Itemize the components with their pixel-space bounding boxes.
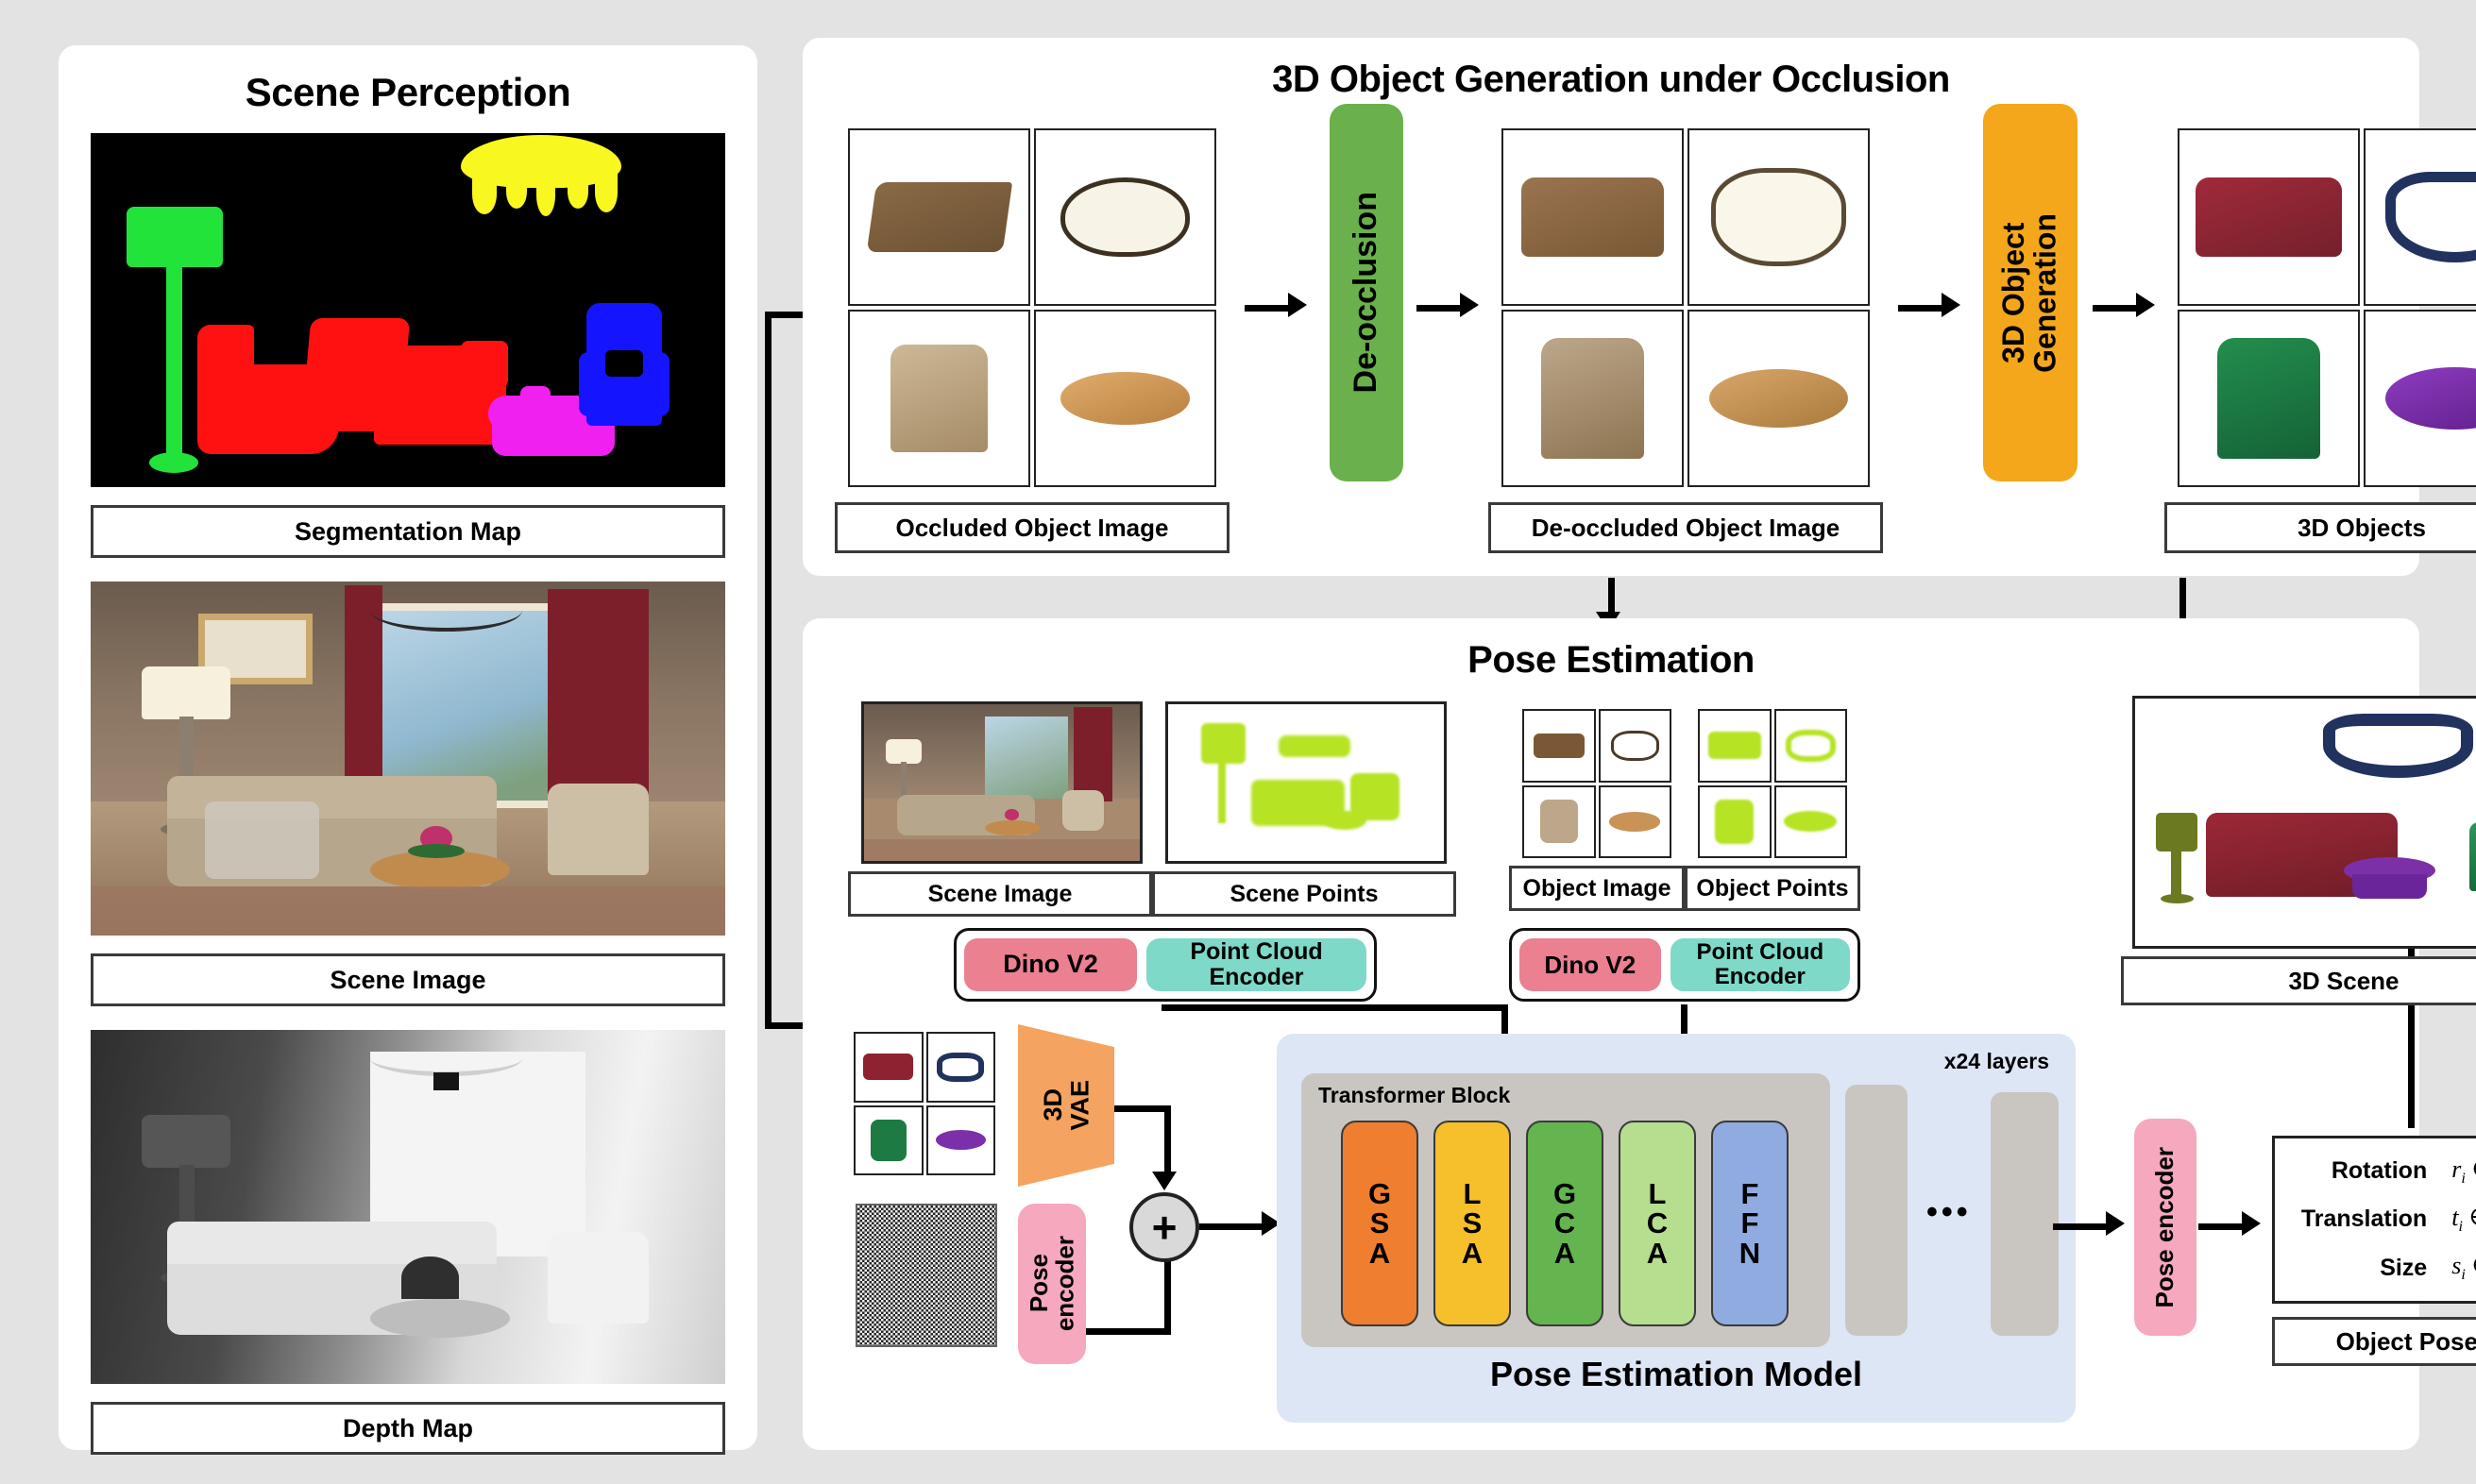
deoccluded-armchair-thumb <box>1501 310 1684 487</box>
caption-pose-object-points-text: Object Points <box>1696 875 1848 902</box>
occluded-armchair-thumb <box>848 310 1030 487</box>
object-point-cloud-encoder[interactable]: Point Cloud Encoder <box>1670 938 1850 991</box>
caption-3d-objects: 3D Objects <box>2164 502 2476 553</box>
layer-gsa[interactable]: G S A <box>1341 1121 1418 1326</box>
layer-ffn-label: F F N <box>1739 1179 1760 1269</box>
vae-in-table <box>926 1105 996 1176</box>
gca-l2: C <box>1554 1206 1575 1239</box>
pose-pts-sofa <box>1698 709 1772 783</box>
caption-pose-object-image-text: Object Image <box>1523 875 1671 902</box>
size-member: ∈ <box>2471 1252 2476 1279</box>
object-pce-line1: Point Cloud <box>1696 939 1823 965</box>
scene-chandelier-3d <box>2323 714 2473 778</box>
pose-estimation-panel: Pose Estimation Scene Image Scene Points <box>803 618 2419 1450</box>
gsa-l3: A <box>1369 1237 1390 1270</box>
lca-l1: L <box>1649 1177 1667 1210</box>
caption-pose-object-image: Object Image <box>1509 866 1685 911</box>
caption-pose-scene-points: Scene Points <box>1152 871 1456 917</box>
vae-in-sofa <box>854 1032 924 1103</box>
gca-l1: G <box>1553 1177 1576 1210</box>
caption-deoccluded-object-image-text: De-occluded Object Image <box>1532 514 1840 543</box>
layer-gca-label: G C A <box>1553 1179 1576 1269</box>
vae-line2: VAE <box>1065 1080 1094 1131</box>
rot-sym: r <box>2451 1155 2461 1183</box>
depth-map-image <box>91 1030 725 1384</box>
scene-point-cloud-encoder[interactable]: Point Cloud Encoder <box>1146 938 1366 991</box>
trans-member: ∈ <box>2468 1204 2476 1231</box>
gsa-l1: G <box>1368 1177 1391 1210</box>
ffn-l2: F <box>1741 1206 1759 1239</box>
caption-segmentation-map: Segmentation Map <box>91 505 725 558</box>
vae-line1: 3D <box>1039 1089 1067 1122</box>
caption-scene-image-text: Scene Image <box>330 966 485 995</box>
transformer-block: Transformer Block G S A L S A G C <box>1301 1073 1830 1347</box>
lsa-l2: S <box>1463 1206 1483 1239</box>
pose-value-translation: ti ∈ ℝ3 <box>2451 1204 2476 1236</box>
scene-lamp-3d <box>2156 813 2197 852</box>
caption-occluded-object-image: Occluded Object Image <box>835 502 1230 553</box>
objects-3d-grid <box>2178 128 2476 487</box>
caption-segmentation-map-text: Segmentation Map <box>295 517 521 547</box>
deocclusion-label: De-occlusion <box>1349 192 1383 393</box>
caption-3d-scene-text: 3D Scene <box>2288 967 2399 996</box>
scene-perception-title: Scene Perception <box>59 70 757 115</box>
sum-node-symbol: + <box>1152 1202 1178 1253</box>
pose-pts-armchair <box>1698 785 1772 859</box>
layer-lca-label: L C A <box>1647 1179 1668 1269</box>
gen-line-2: Generation <box>2028 213 2062 373</box>
object-poses-table: Rotation ri ∈ ℝ6 Translation ti ∈ ℝ3 Siz… <box>2272 1136 2476 1304</box>
ffn-l1: F <box>1741 1177 1759 1210</box>
caption-depth-map-text: Depth Map <box>343 1414 473 1443</box>
gen-line-1: 3D Object <box>1996 222 2030 363</box>
pose-obj-chandelier <box>1599 709 1672 783</box>
object-dino-v2-label: Dino V2 <box>1544 952 1636 979</box>
3d-vae-block: 3D VAE <box>1018 1024 1114 1187</box>
caption-depth-map: Depth Map <box>91 1402 725 1455</box>
noise-image <box>856 1204 997 1347</box>
gca-l3: A <box>1554 1237 1575 1270</box>
caption-occluded-object-image-text: Occluded Object Image <box>896 514 1169 543</box>
pose-pts-chandelier <box>1774 709 1848 783</box>
pose-key-rotation: Rotation <box>2294 1157 2427 1185</box>
ffn-l3: N <box>1739 1237 1760 1270</box>
caption-3d-objects-text: 3D Objects <box>2298 514 2426 543</box>
object-generation-block-label: 3D Object Generation <box>1998 213 2061 373</box>
lca-l3: A <box>1647 1237 1668 1270</box>
layer-lca[interactable]: L C A <box>1619 1121 1696 1326</box>
transformer-block-label: Transformer Block <box>1318 1083 1510 1108</box>
deoccluded-table-thumb <box>1687 310 1870 487</box>
object-pce-line2: Encoder <box>1715 964 1806 989</box>
ghost-block-1 <box>1845 1085 1908 1336</box>
occluded-object-grid <box>848 128 1216 487</box>
seg-floor-lamp <box>127 207 223 267</box>
scene-armchair-3d <box>2469 822 2476 891</box>
occluded-table-thumb <box>1034 310 1216 487</box>
trans-sub: i <box>2458 1219 2462 1235</box>
deoccluded-chandelier-thumb <box>1687 128 1870 306</box>
layers-ellipsis: ••• <box>1926 1194 1972 1231</box>
vae-in-chandelier <box>926 1032 996 1103</box>
pose-encoder-input: Pose encoder <box>1018 1204 1086 1364</box>
pose-obj-table <box>1599 785 1672 859</box>
scene-perception-panel: Scene Perception <box>59 45 757 1450</box>
caption-pose-scene-image: Scene Image <box>848 871 1152 917</box>
size-sym: s <box>2451 1252 2461 1279</box>
pose-scene-image <box>861 701 1143 864</box>
pose-scene-points <box>1165 701 1447 864</box>
object-generation-panel: 3D Object Generation under Occlusion Occ… <box>803 38 2419 576</box>
scene-encoder-group: Dino V2 Point Cloud Encoder <box>954 928 1377 1002</box>
object-generation-title: 3D Object Generation under Occlusion <box>803 59 2419 101</box>
occluded-sofa-thumb <box>848 128 1030 306</box>
object-generation-block: 3D Object Generation <box>1983 104 2077 481</box>
pose-value-size: si ∈ R <box>2451 1252 2476 1284</box>
layer-lsa[interactable]: L S A <box>1433 1121 1511 1326</box>
pose-estimation-model-name: Pose Estimation Model <box>1277 1355 2076 1394</box>
pose-encoder-output: Pose encoder <box>2134 1119 2196 1336</box>
scene-pce-line1: Point Cloud <box>1190 938 1322 965</box>
layer-gca[interactable]: G C A <box>1526 1121 1603 1326</box>
lsa-l1: L <box>1464 1177 1482 1210</box>
scene-dino-v2[interactable]: Dino V2 <box>964 938 1137 991</box>
layer-ffn[interactable]: F F N <box>1711 1121 1789 1326</box>
object-3d-table-thumb <box>2364 310 2476 487</box>
pose-estimation-model: x24 layers Transformer Block G S A L S A <box>1277 1034 2076 1423</box>
vae-in-armchair <box>854 1105 924 1176</box>
pose-enc-out-label: Pose encoder <box>2152 1147 2178 1308</box>
pose-object-image-grid <box>1522 709 1671 858</box>
caption-object-poses: Object Poses <box>2272 1317 2476 1366</box>
object-3d-chandelier-thumb <box>2364 128 2476 306</box>
caption-pose-object-points: Object Points <box>1685 866 1860 911</box>
vae-input-objects-grid <box>854 1032 995 1175</box>
rot-sub: i <box>2461 1171 2465 1187</box>
layer-gsa-label: G S A <box>1368 1179 1391 1269</box>
pose-estimation-title: Pose Estimation <box>803 639 2419 682</box>
pose-key-translation: Translation <box>2294 1206 2427 1233</box>
object-3d-sofa-thumb <box>2178 128 2360 306</box>
scene-pce-line2: Encoder <box>1210 964 1304 990</box>
object-dino-v2[interactable]: Dino V2 <box>1519 938 1661 991</box>
deoccluded-object-grid <box>1501 128 1870 487</box>
rot-member: ∈ <box>2471 1155 2476 1183</box>
size-sub: i <box>2461 1267 2465 1283</box>
3d-scene-image <box>2132 696 2476 949</box>
sum-node: + <box>1129 1192 1199 1262</box>
layers-count-label: x24 layers <box>1944 1049 2049 1074</box>
pose-obj-sofa <box>1522 709 1596 783</box>
pose-enc-in-line2: encoder <box>1050 1236 1078 1331</box>
scene-image <box>91 582 725 936</box>
deoccluded-sofa-thumb <box>1501 128 1684 306</box>
pose-value-rotation: ri ∈ ℝ6 <box>2451 1155 2476 1188</box>
pose-pts-table <box>1774 785 1848 859</box>
caption-pose-scene-points-text: Scene Points <box>1230 881 1379 908</box>
ghost-block-2 <box>1991 1092 2059 1336</box>
caption-deoccluded-object-image: De-occluded Object Image <box>1488 502 1883 553</box>
pose-enc-in-line1: Pose <box>1025 1255 1053 1313</box>
caption-pose-scene-image-text: Scene Image <box>928 881 1073 908</box>
object-3d-armchair-thumb <box>2178 310 2360 487</box>
caption-object-poses-text: Object Poses <box>2336 1327 2476 1357</box>
deocclusion-block: De-occlusion <box>1330 104 1403 481</box>
caption-3d-scene: 3D Scene <box>2121 956 2476 1005</box>
layer-lsa-label: L S A <box>1462 1179 1483 1269</box>
pose-object-points-grid <box>1698 709 1847 858</box>
lca-l2: C <box>1647 1206 1668 1239</box>
segmentation-map-image <box>91 133 725 487</box>
lsa-l3: A <box>1462 1237 1483 1270</box>
gsa-l2: S <box>1370 1206 1390 1239</box>
pose-key-size: Size <box>2294 1255 2427 1282</box>
occluded-chandelier-thumb <box>1034 128 1216 306</box>
object-encoder-group: Dino V2 Point Cloud Encoder <box>1509 928 1860 1002</box>
caption-scene-image: Scene Image <box>91 953 725 1006</box>
pose-obj-armchair <box>1522 785 1596 859</box>
scene-dino-v2-label: Dino V2 <box>1003 951 1098 979</box>
